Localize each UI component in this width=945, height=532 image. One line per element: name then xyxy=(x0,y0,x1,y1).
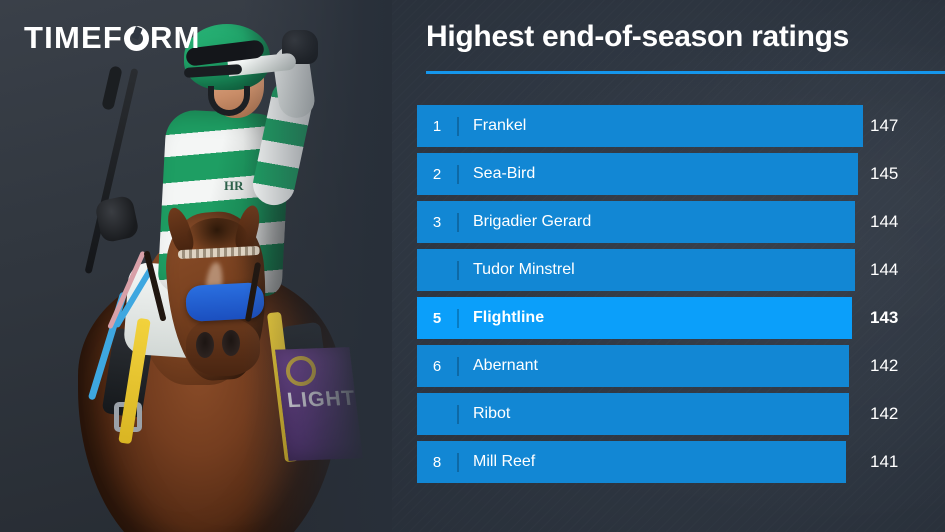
rating-bar: 8Mill Reef xyxy=(417,441,846,483)
rank-divider xyxy=(457,309,459,328)
rank-divider xyxy=(457,165,459,184)
rank-divider xyxy=(457,117,459,136)
horse-name: Sea-Bird xyxy=(473,165,535,183)
logo-text-part2: RM xyxy=(150,20,201,56)
horse-name: Brigadier Gerard xyxy=(473,213,591,231)
row-rank: 1 xyxy=(417,118,457,135)
horse-name: Abernant xyxy=(473,357,538,375)
table-row[interactable]: 6Abernant142 xyxy=(417,345,945,387)
saddle-cloth-text: LIGHT xyxy=(286,387,357,413)
rating-value: 142 xyxy=(870,393,898,435)
table-row[interactable]: 8Mill Reef141 xyxy=(417,441,945,483)
infographic-stage: HR LIGHT TIM xyxy=(0,0,945,532)
row-rank: 2 xyxy=(417,166,457,183)
table-row[interactable]: 5Flightline143 xyxy=(417,297,945,339)
page-title: Highest end-of-season ratings xyxy=(426,20,945,55)
rank-divider xyxy=(457,453,459,472)
rating-value: 147 xyxy=(870,105,898,147)
rank-divider xyxy=(457,213,459,232)
rating-value: 143 xyxy=(870,297,898,339)
horse-nostril-right xyxy=(222,330,240,356)
logo-text-part1: TIMEF xyxy=(24,20,123,56)
rating-bar: 5Flightline xyxy=(417,297,852,339)
ratings-panel: Highest end-of-season ratings 1Frankel14… xyxy=(380,0,945,532)
row-rank: 3 xyxy=(417,214,457,231)
rating-value: 145 xyxy=(870,153,898,195)
rank-divider xyxy=(457,405,459,424)
horse-name: Ribot xyxy=(473,405,510,423)
row-rank: 8 xyxy=(417,454,457,471)
horse-name: Flightline xyxy=(473,309,544,327)
table-row[interactable]: 1Frankel147 xyxy=(417,105,945,147)
rating-bar: 1Frankel xyxy=(417,105,863,147)
silks-logo: HR xyxy=(224,178,244,194)
rank-divider xyxy=(457,357,459,376)
rating-value: 142 xyxy=(870,345,898,387)
table-row[interactable]: 3Brigadier Gerard144 xyxy=(417,201,945,243)
row-rank: 6 xyxy=(417,358,457,375)
title-accent-rule xyxy=(426,71,945,74)
breeders-cup-emblem xyxy=(286,356,316,386)
horse-name: Tudor Minstrel xyxy=(473,261,575,279)
rating-value: 144 xyxy=(870,249,898,291)
rating-value: 144 xyxy=(870,201,898,243)
table-row[interactable]: Ribot142 xyxy=(417,393,945,435)
horse-name: Frankel xyxy=(473,117,526,135)
logo-o-icon xyxy=(124,26,149,51)
rank-divider xyxy=(457,261,459,280)
hero-photo: HR LIGHT xyxy=(0,0,392,532)
rating-bar: 3Brigadier Gerard xyxy=(417,201,855,243)
rating-bar: 6Abernant xyxy=(417,345,849,387)
rating-bar: Ribot xyxy=(417,393,849,435)
table-row[interactable]: Tudor Minstrel144 xyxy=(417,249,945,291)
timeform-logo-text: TIMEFRM xyxy=(24,20,201,56)
table-row[interactable]: 2Sea-Bird145 xyxy=(417,153,945,195)
rating-bar: Tudor Minstrel xyxy=(417,249,855,291)
rating-bar: 2Sea-Bird xyxy=(417,153,858,195)
timeform-logo[interactable]: TIMEFRM xyxy=(24,20,201,56)
horse-name: Mill Reef xyxy=(473,453,535,471)
rating-value: 141 xyxy=(870,441,898,483)
row-rank: 5 xyxy=(417,310,457,327)
horse-nostril-left xyxy=(196,332,214,358)
ratings-bar-chart: 1Frankel1472Sea-Bird1453Brigadier Gerard… xyxy=(417,105,945,489)
